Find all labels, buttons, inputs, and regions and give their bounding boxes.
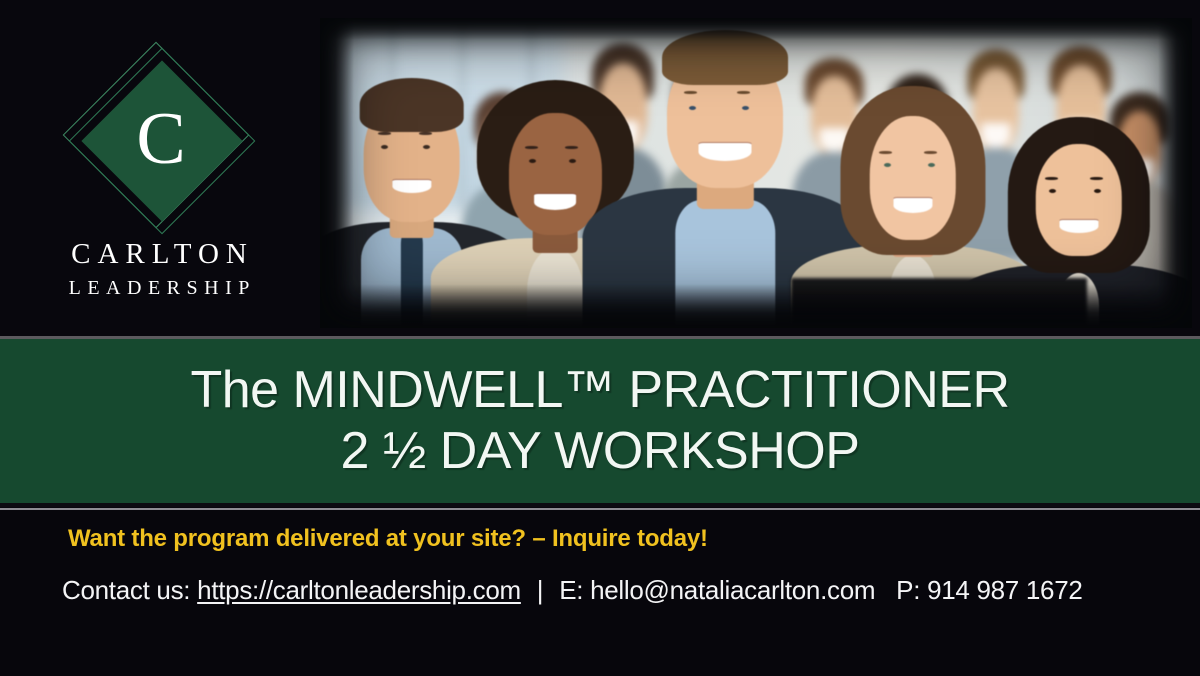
workshop-title-line2: 2 ½ DAY WORKSHOP	[341, 421, 860, 482]
carlton-leadership-logo: C CARLTON LEADERSHIP	[0, 0, 318, 336]
contact-us-label: Contact us:	[62, 575, 190, 605]
email-address[interactable]: hello@nataliacarlton.com	[590, 575, 875, 605]
hero-photo-content	[320, 18, 1192, 328]
phone-label: P:	[882, 575, 920, 605]
logo-monogram: C	[105, 84, 219, 198]
contact-details-line: Contact us: https://carltonleadership.co…	[62, 575, 1200, 606]
promotional-poster: C CARLTON LEADERSHIP	[0, 0, 1200, 676]
photo-fade-bottom	[320, 284, 1192, 328]
photo-fade-right	[1158, 18, 1192, 328]
phone-number[interactable]: 914 987 1672	[927, 575, 1082, 605]
diamond-logo-mark: C	[66, 43, 252, 233]
website-link[interactable]: https://carltonleadership.com	[197, 575, 521, 605]
email-label: E:	[559, 575, 583, 605]
photo-fade-left	[320, 18, 354, 328]
workshop-title-line1: The MINDWELL™ PRACTITIONER	[190, 360, 1009, 421]
banner-hairline-rule	[0, 508, 1200, 510]
contact-section: Want the program delivered at your site?…	[0, 512, 1200, 632]
photo-fade-top	[320, 18, 1192, 40]
title-banner: The MINDWELL™ PRACTITIONER 2 ½ DAY WORKS…	[0, 339, 1200, 503]
header-section: C CARLTON LEADERSHIP	[0, 0, 1200, 336]
hero-photo	[320, 18, 1192, 328]
photo-foreground-person-center	[643, 24, 809, 328]
banner-bottom-rule	[0, 503, 1200, 507]
inquiry-cta-text: Want the program delivered at your site?…	[68, 525, 1200, 553]
logo-wordmark-leadership: LEADERSHIP	[62, 278, 256, 299]
logo-wordmark-carlton: CARLTON	[64, 239, 254, 269]
contact-separator: |	[528, 575, 552, 605]
